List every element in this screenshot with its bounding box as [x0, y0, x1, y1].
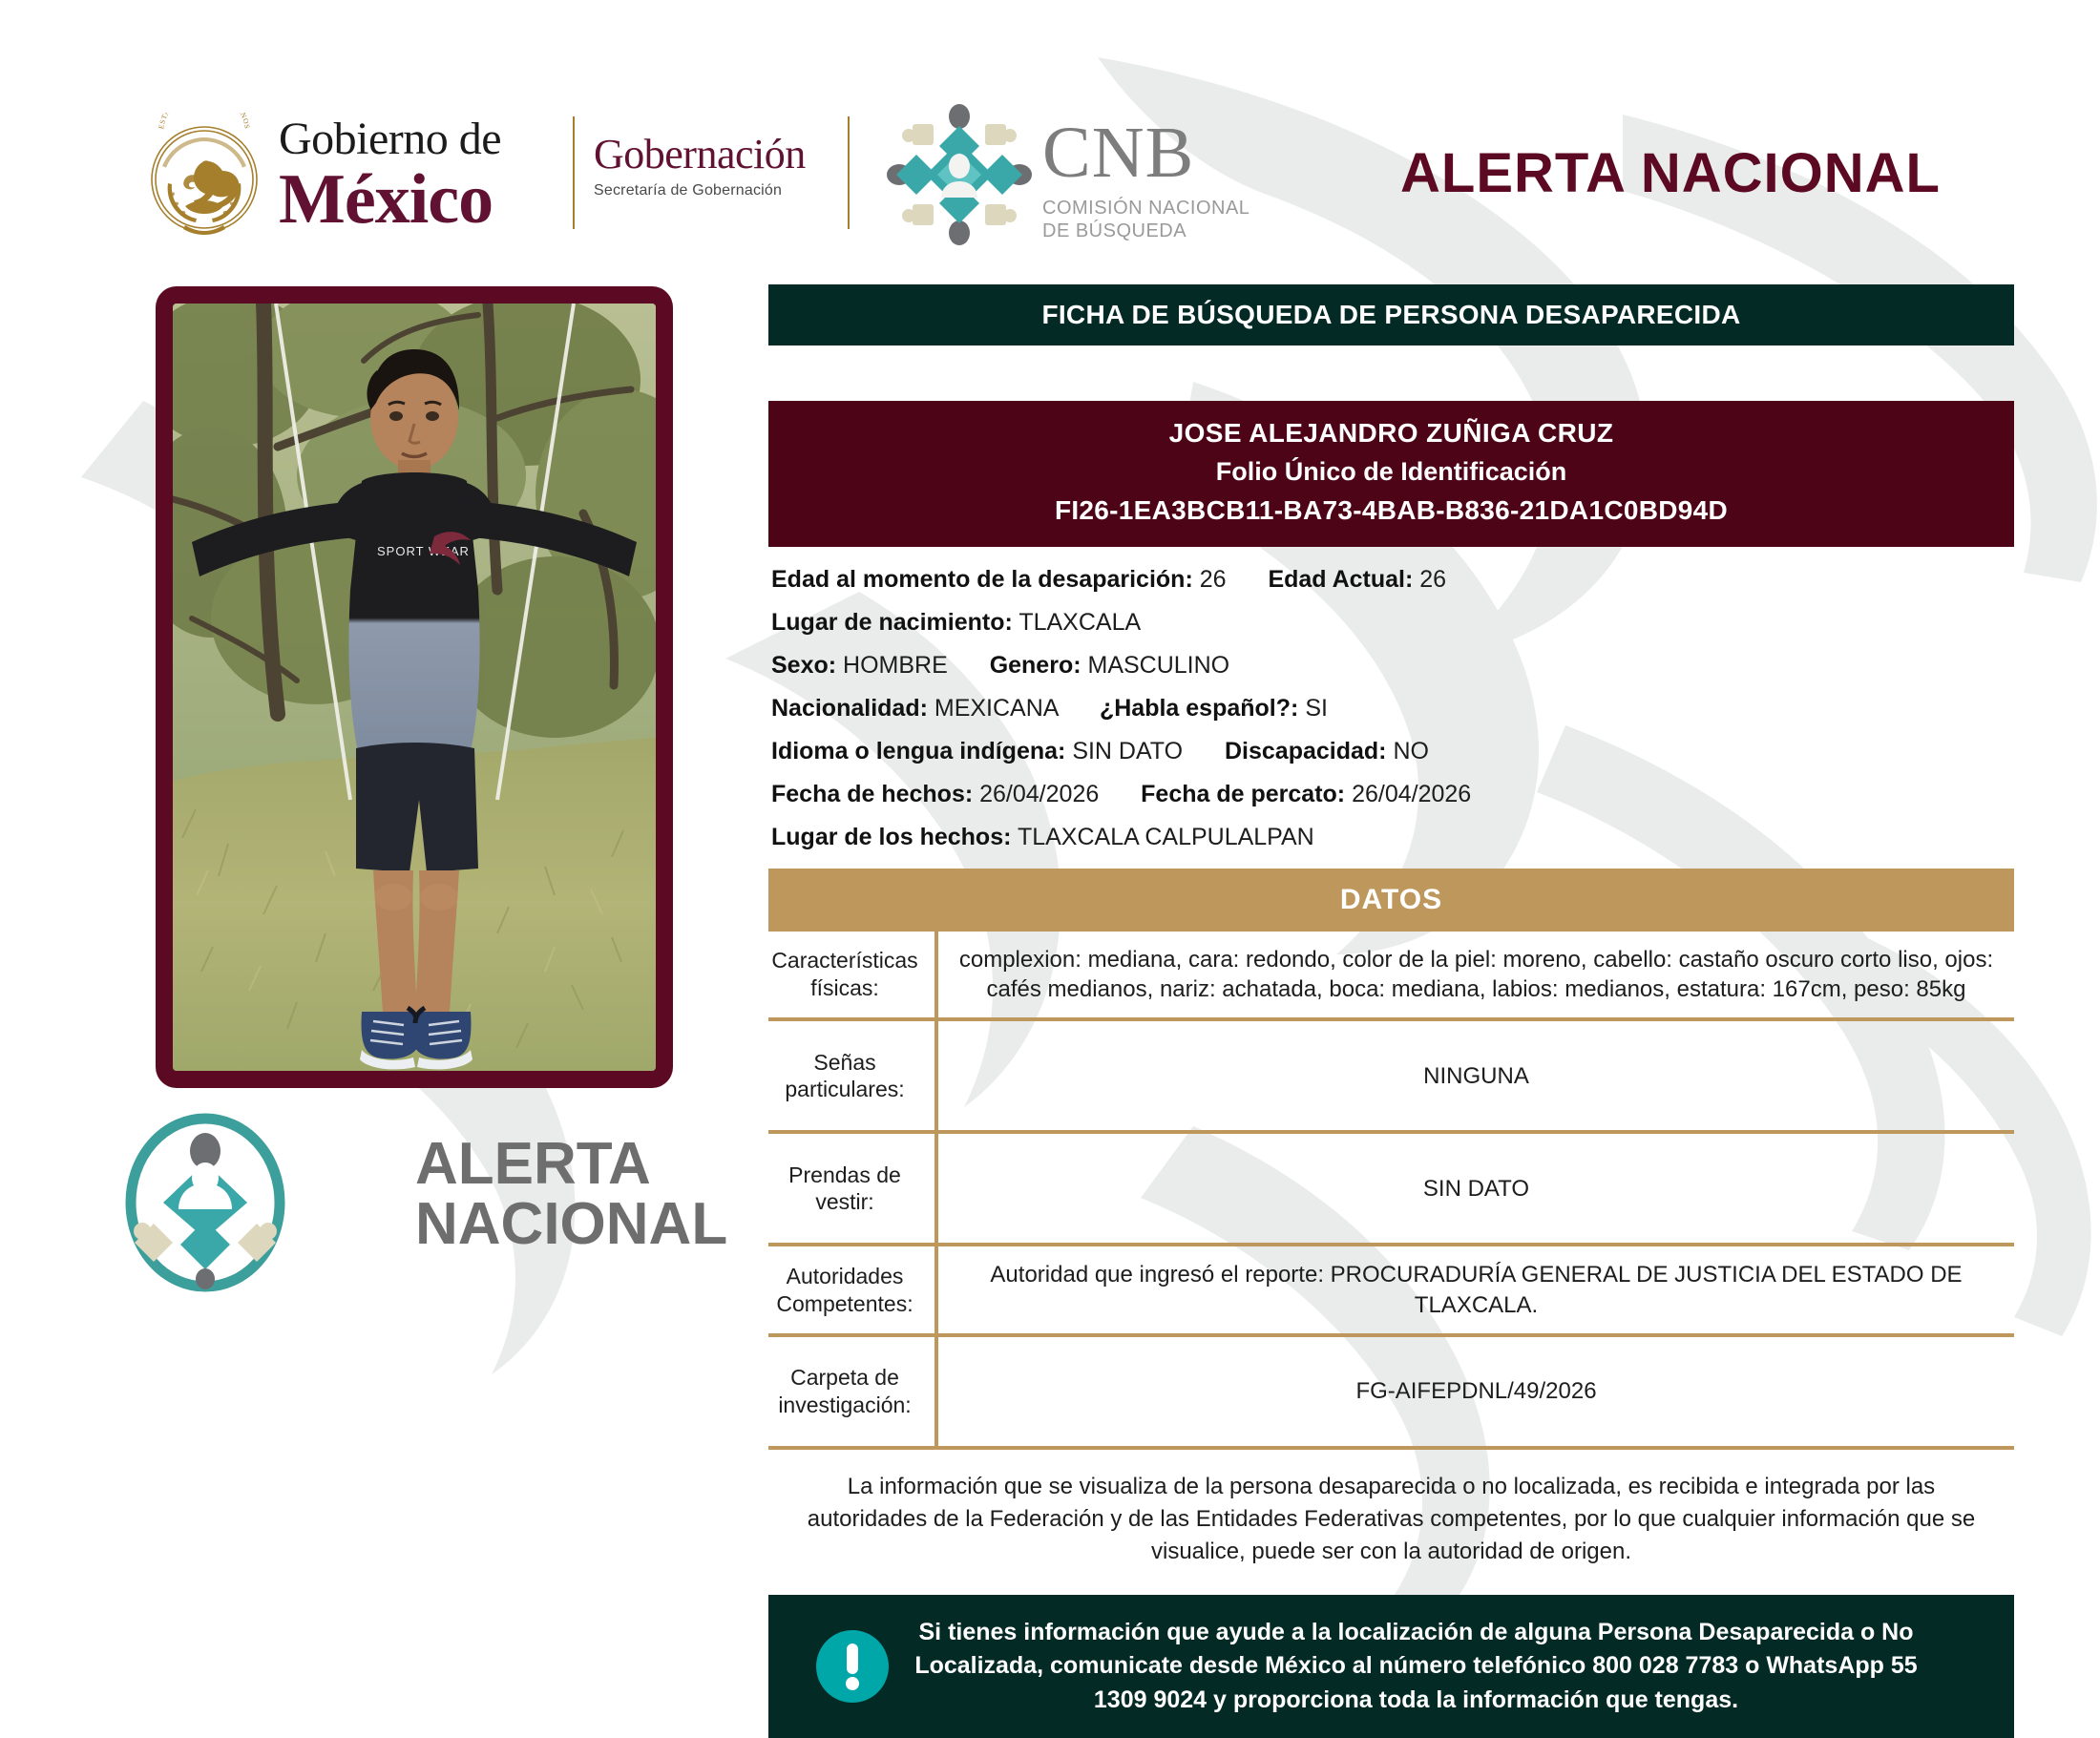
datos-section-header: DATOS [768, 869, 2014, 932]
person-identity-banner: JOSE ALEJANDRO ZUÑIGA CRUZ Folio Único d… [768, 401, 2014, 547]
table-row: Carpeta de investigación: FG-AIFEPDNL/49… [768, 1335, 2014, 1448]
disclaimer-text: La información que se visualiza de la pe… [768, 1471, 2014, 1568]
cnb-logo-icon [878, 103, 1040, 246]
value-sexo: HOMBRE [843, 652, 948, 679]
row-key-carpeta-investigacion: Carpeta de investigación: [768, 1335, 936, 1448]
table-row: Prendas de vestir: SIN DATO [768, 1132, 2014, 1245]
label-habla-espanol: ¿Habla español?: [1100, 695, 1298, 722]
label-lugar-nacimiento: Lugar de nacimiento: [771, 609, 1013, 636]
row-value-caracteristicas-fisicas: complexion: mediana, cara: redondo, colo… [936, 932, 2014, 1019]
table-row: Señas particulares: NINGUNA [768, 1019, 2014, 1132]
value-lugar-nacimiento: TLAXCALA [1018, 609, 1141, 636]
label-fecha-hechos: Fecha de hechos: [771, 781, 973, 807]
row-value-carpeta-investigacion: FG-AIFEPDNL/49/2026 [936, 1335, 2014, 1448]
contact-banner: Si tienes información que ayude a la loc… [768, 1595, 2014, 1738]
value-habla-espanol: SI [1305, 695, 1328, 722]
alerta-logo-line2: NACIONAL [415, 1194, 727, 1254]
row-key-senas-particulares: Señas particulares: [768, 1019, 936, 1132]
mexico-coat-of-arms-icon: ESTADOS UNIDOS MEXICANOS [143, 113, 265, 246]
field-row-nacionalidad: Nacionalidad: MEXICANA ¿Habla español?: … [771, 697, 2014, 721]
label-edad-actual: Edad Actual: [1268, 566, 1413, 593]
table-row: Autoridades Competentes: Autoridad que i… [768, 1245, 2014, 1334]
cnb-acronym: CNB [1042, 116, 1249, 189]
field-row-lugar-hechos: Lugar de los hechos: TLAXCALA CALPULALPA… [771, 826, 2014, 849]
row-value-senas-particulares: NINGUNA [936, 1019, 2014, 1132]
value-edad-actual: 26 [1419, 566, 1446, 593]
row-key-autoridades-competentes: Autoridades Competentes: [768, 1245, 936, 1334]
value-fecha-hechos: 26/04/2026 [979, 781, 1099, 807]
field-row-edad: Edad al momento de la desaparición: 26 E… [771, 568, 2014, 592]
label-edad-desaparicion: Edad al momento de la desaparición: [771, 566, 1193, 593]
alerta-nacional-badge-icon [110, 1107, 301, 1298]
label-idioma: Idioma o lengua indígena: [771, 738, 1065, 764]
gobernacion-wordmark: Gobernación Secretaría de Gobernación [594, 134, 806, 199]
field-row-idioma: Idioma o lengua indígena: SIN DATO Disca… [771, 740, 2014, 764]
label-sexo: Sexo: [771, 652, 836, 679]
field-row-lugar-nacimiento: Lugar de nacimiento: TLAXCALA [771, 611, 2014, 635]
folio-value: FI26-1EA3BCB11-BA73-4BAB-B836-21DA1C0BD9… [778, 495, 2005, 526]
alerta-nacional-title: ALERTA NACIONAL [1336, 141, 2005, 205]
cnb-wordmark: CNB COMISIÓN NACIONAL DE BÚSQUEDA [1042, 116, 1249, 241]
label-genero: Genero: [990, 652, 1081, 679]
field-row-fechas: Fecha de hechos: 26/04/2026 Fecha de per… [771, 783, 2014, 806]
cnb-subtitle-line1: COMISIÓN NACIONAL [1042, 199, 1249, 218]
header-divider-1 [573, 116, 575, 229]
label-lugar-hechos: Lugar de los hechos: [771, 824, 1011, 850]
row-value-autoridades-competentes: Autoridad que ingresó el reporte: PROCUR… [936, 1245, 2014, 1334]
header-divider-2 [848, 116, 850, 229]
value-nacionalidad: MEXICANA [934, 695, 1058, 722]
gobernacion-title: Gobernación [594, 134, 806, 176]
row-value-prendas-de-vestir: SIN DATO [936, 1132, 2014, 1245]
demographic-fields: Edad al momento de la desaparición: 26 E… [768, 568, 2014, 849]
alerta-logo-line1: ALERTA [415, 1134, 727, 1194]
value-discapacidad: NO [1393, 738, 1429, 764]
person-photo-frame: SPORT WEAR [156, 286, 673, 1088]
value-genero: MASCULINO [1088, 652, 1230, 679]
row-key-caracteristicas-fisicas: Características físicas: [768, 932, 936, 1019]
mexico-line: México [279, 164, 501, 235]
value-fecha-percato: 26/04/2026 [1352, 781, 1471, 807]
alerta-nacional-logo-text: ALERTA NACIONAL [415, 1134, 727, 1254]
gobierno-line: Gobierno de [279, 116, 501, 162]
person-name: JOSE ALEJANDRO ZUÑIGA CRUZ [778, 418, 2005, 449]
label-fecha-percato: Fecha de percato: [1141, 781, 1345, 807]
person-photo: SPORT WEAR [173, 304, 656, 1071]
page-header: ESTADOS UNIDOS MEXICANOS Gobierno de Méx… [0, 0, 2100, 267]
row-key-prendas-de-vestir: Prendas de vestir: [768, 1132, 936, 1245]
ficha-title-banner: FICHA DE BÚSQUEDA DE PERSONA DESAPARECID… [768, 284, 2014, 346]
gobierno-de-mexico-wordmark: Gobierno de México [279, 116, 501, 235]
value-lugar-hechos: TLAXCALA CALPULALPAN [1018, 824, 1314, 850]
field-row-sexo-genero: Sexo: HOMBRE Genero: MASCULINO [771, 654, 2014, 678]
value-edad-desaparicion: 26 [1200, 566, 1227, 593]
label-discapacidad: Discapacidad: [1225, 738, 1387, 764]
cnb-subtitle-line2: DE BÚSQUEDA [1042, 221, 1249, 241]
label-nacionalidad: Nacionalidad: [771, 695, 928, 722]
alerta-nacional-logo: ALERTA NACIONAL [110, 1107, 702, 1298]
exclamation-icon [812, 1626, 892, 1707]
main-content-column: FICHA DE BÚSQUEDA DE PERSONA DESAPARECID… [768, 284, 2014, 1738]
table-row: Características físicas: complexion: med… [768, 932, 2014, 1019]
gobernacion-subtitle: Secretaría de Gobernación [594, 183, 806, 199]
contact-banner-text: Si tienes información que ayude a la loc… [913, 1616, 1985, 1718]
datos-table: Características físicas: complexion: med… [768, 932, 2014, 1450]
value-idioma: SIN DATO [1072, 738, 1183, 764]
folio-label: Folio Único de Identificación [778, 457, 2005, 487]
